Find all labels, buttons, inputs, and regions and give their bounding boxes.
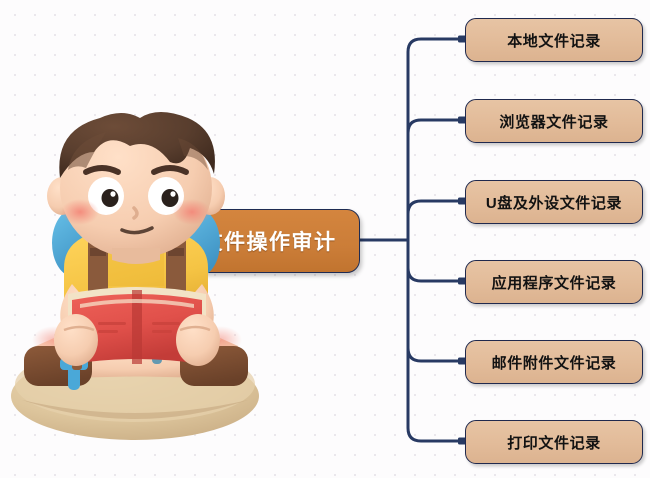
branch-line-2 <box>408 120 465 133</box>
branch-node-2[interactable]: 浏览器文件记录 <box>465 99 643 143</box>
branch-node-label: U盘及外设文件记录 <box>486 192 622 213</box>
branch-node-label: 应用程序文件记录 <box>492 272 617 293</box>
mindmap-canvas: 文件操作审计 本地文件记录 浏览器文件记录 U盘及外设文件记录 应用程序文件记录… <box>0 0 650 478</box>
branch-line-4 <box>408 268 465 281</box>
boy-reading-book-illustration <box>2 108 272 440</box>
branch-node-label: 邮件附件文件记录 <box>492 352 617 373</box>
branch-node-4[interactable]: 应用程序文件记录 <box>465 260 643 304</box>
branch-node-label: 浏览器文件记录 <box>499 111 608 132</box>
branch-line-6 <box>408 428 465 441</box>
branch-line-1 <box>408 39 465 52</box>
branch-node-label: 本地文件记录 <box>507 30 601 51</box>
branch-node-5[interactable]: 邮件附件文件记录 <box>465 340 643 384</box>
branch-line-3 <box>408 201 465 214</box>
branch-line-5 <box>408 348 465 361</box>
branch-node-3[interactable]: U盘及外设文件记录 <box>465 180 643 224</box>
branch-node-label: 打印文件记录 <box>507 432 601 453</box>
branch-node-1[interactable]: 本地文件记录 <box>465 18 643 62</box>
branch-node-6[interactable]: 打印文件记录 <box>465 420 643 464</box>
